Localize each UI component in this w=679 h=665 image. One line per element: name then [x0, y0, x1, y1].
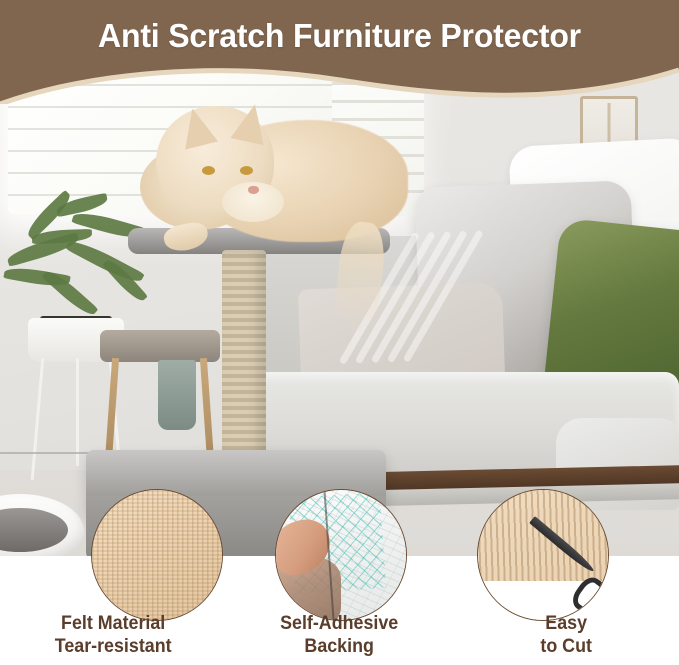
- feature-line-1: Felt Material: [61, 613, 165, 634]
- feature-label-self-adhesive: Self-Adhesive Backing: [233, 612, 446, 665]
- feature-label-felt-material: Felt Material Tear-resistant: [7, 612, 220, 665]
- thumbnail-self-adhesive: [275, 489, 407, 621]
- product-image-page: Anti Scratch Furniture Protector Felt Ma…: [0, 0, 679, 665]
- scissor-blade: [529, 516, 596, 574]
- thumbnail-easy-to-cut: [477, 489, 609, 621]
- feature-thumbnails: [0, 0, 679, 665]
- feature-line-1: Self-Adhesive: [280, 613, 398, 634]
- feature-line-2: Backing: [233, 635, 446, 658]
- feature-label-row: Felt Material Tear-resistant Self-Adhesi…: [0, 612, 679, 665]
- feature-label-easy-to-cut: Easy to Cut: [459, 612, 672, 665]
- feature-line-2: Tear-resistant: [7, 635, 220, 658]
- feature-line-1: Easy: [545, 613, 587, 634]
- feature-line-2: to Cut: [459, 635, 672, 658]
- felt-texture: [92, 490, 222, 620]
- scissors-icon: [530, 511, 605, 610]
- thumbnail-felt-material: [91, 489, 223, 621]
